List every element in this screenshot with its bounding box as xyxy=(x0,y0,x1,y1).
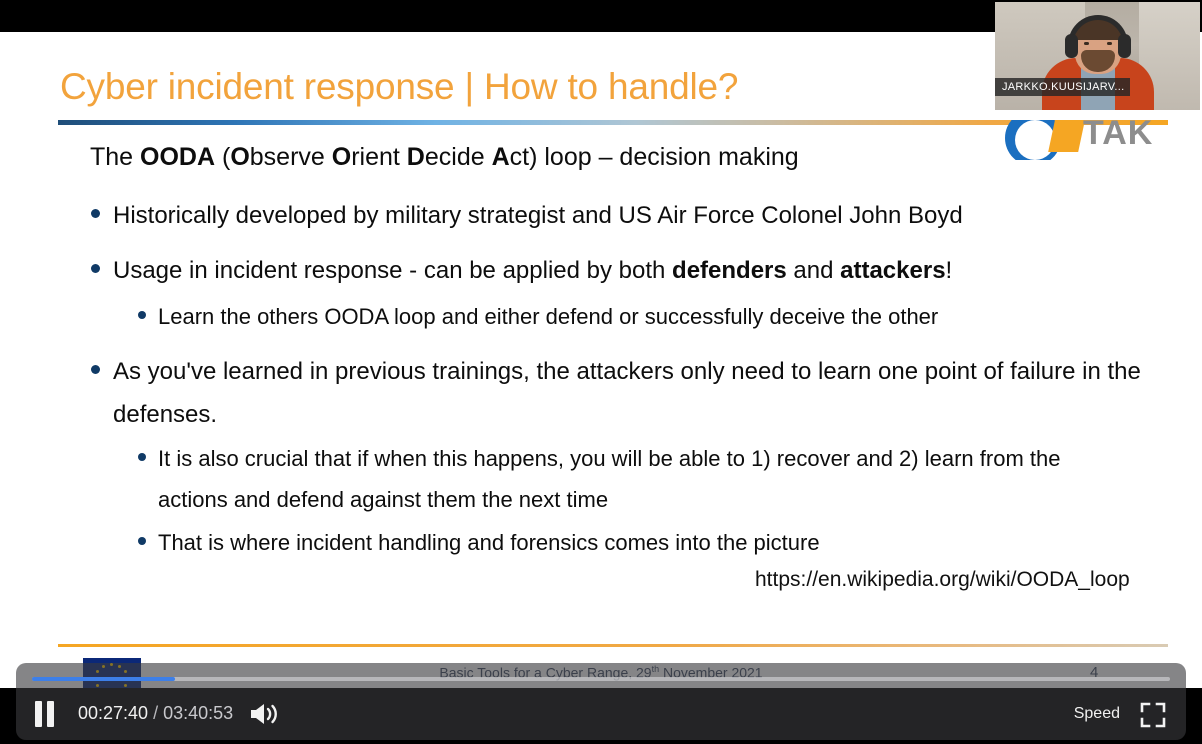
time-separator: / xyxy=(153,703,158,723)
progress-bar-fill xyxy=(32,677,175,681)
brand-bar-shape xyxy=(1048,120,1086,152)
source-url: https://en.wikipedia.org/wiki/OODA_loop xyxy=(755,568,1130,592)
lead-pre: The xyxy=(90,143,140,171)
presentation-slide: Cyber incident response | How to handle?… xyxy=(0,32,1202,688)
headphones-cup-right-icon xyxy=(1118,34,1131,58)
lead-ooda: OODA xyxy=(140,143,215,171)
volume-icon[interactable] xyxy=(248,701,282,727)
lead-ct-close: ct) loop – decision making xyxy=(510,143,799,171)
video-player-controls: 00:27:40 / 03:40:53 Speed xyxy=(16,663,1186,740)
bullet-item: As you've learned in previous trainings,… xyxy=(113,350,1143,436)
lead-paragraph: The OODA (Observe Orient Decide Act) loo… xyxy=(90,140,799,174)
bullet-text: Learn the others OODA loop and either de… xyxy=(158,296,1118,337)
bullet-item: Usage in incident response - can be appl… xyxy=(113,249,1143,292)
bullet-dot-icon xyxy=(138,453,146,461)
slide-title: Cyber incident response | How to handle? xyxy=(60,66,738,108)
current-time: 00:27:40 xyxy=(78,703,148,723)
webcam-participant-name: JARKKO.KUUSIJARV... xyxy=(995,78,1130,96)
bullet-text: Usage in incident response - can be appl… xyxy=(113,249,1143,292)
lead-bserve: bserve xyxy=(250,143,332,171)
brand-text: TAK xyxy=(1083,120,1153,153)
bullet-dot-icon xyxy=(138,311,146,319)
speed-button[interactable]: Speed xyxy=(1074,705,1120,723)
lead-o1: O xyxy=(230,143,249,171)
bullet-dot-icon xyxy=(91,209,100,218)
headphones-cup-left-icon xyxy=(1065,34,1078,58)
lead-ecide: ecide xyxy=(425,143,492,171)
bullet-bold-defenders: defenders xyxy=(672,257,787,284)
bullet-post: ! xyxy=(946,257,953,284)
brand-circle-inner-shape xyxy=(1015,120,1055,160)
player-control-row: 00:27:40 / 03:40:53 Speed xyxy=(16,691,1186,740)
bullet-dot-icon xyxy=(91,365,100,374)
time-display: 00:27:40 / 03:40:53 xyxy=(78,703,233,724)
pause-icon[interactable] xyxy=(34,701,56,727)
bullet-pre: Usage in incident response - can be appl… xyxy=(113,257,672,284)
sub-bullet-item: It is also crucial that if when this hap… xyxy=(158,438,1118,520)
lead-a: A xyxy=(492,143,510,171)
fullscreen-icon[interactable] xyxy=(1140,702,1166,728)
sub-bullet-item: That is where incident handling and fore… xyxy=(158,522,1118,563)
bullet-text: As you've learned in previous trainings,… xyxy=(113,350,1143,436)
bullet-bold-attackers: attackers xyxy=(840,257,945,284)
brand-logo: TAK xyxy=(997,120,1202,160)
bullet-text: Historically developed by military strat… xyxy=(113,194,1143,237)
video-player-stage: Cyber incident response | How to handle?… xyxy=(0,0,1202,744)
bullet-text: That is where incident handling and fore… xyxy=(158,522,1118,563)
bullet-dot-icon xyxy=(138,537,146,545)
webcam-thumbnail[interactable]: JARKKO.KUUSIJARV... xyxy=(995,2,1200,110)
bullet-item: Historically developed by military strat… xyxy=(113,194,1143,237)
total-duration: 03:40:53 xyxy=(163,703,233,723)
bullet-mid: and xyxy=(787,257,840,284)
footer-rule xyxy=(58,644,1168,647)
lead-o2: O xyxy=(332,143,351,171)
sub-bullet-item: Learn the others OODA loop and either de… xyxy=(158,296,1118,337)
lead-open: ( xyxy=(215,143,230,171)
lead-rient: rient xyxy=(351,143,407,171)
bullet-dot-icon xyxy=(91,264,100,273)
lead-d: D xyxy=(407,143,425,171)
progress-bar-track[interactable] xyxy=(32,677,1170,681)
bullet-text: It is also crucial that if when this hap… xyxy=(158,438,1118,520)
